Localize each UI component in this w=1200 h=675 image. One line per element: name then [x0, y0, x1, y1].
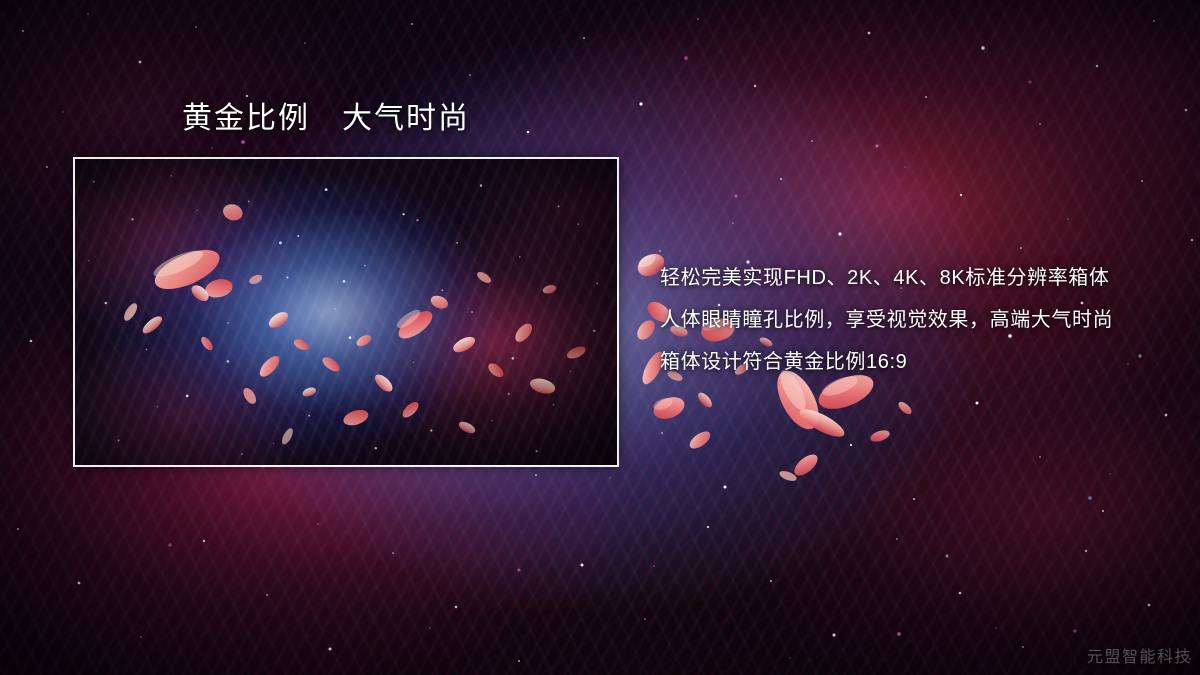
page-title: 黄金比例 大气时尚 — [182, 101, 470, 137]
body-line-2: 人体眼睛瞳孔比例，享受视觉效果，高端大气时尚 — [660, 299, 1180, 341]
picture-vignette — [75, 159, 617, 465]
picture-frame — [73, 157, 619, 467]
body-copy: 轻松完美实现FHD、2K、4K、8K标准分辨率箱体 人体眼睛瞳孔比例，享受视觉效… — [660, 257, 1180, 383]
picture-image — [75, 159, 617, 465]
body-line-1: 轻松完美实现FHD、2K、4K、8K标准分辨率箱体 — [660, 257, 1180, 299]
body-line-3: 箱体设计符合黄金比例16:9 — [660, 341, 1180, 383]
watermark: 元盟智能科技 — [1087, 643, 1192, 667]
slide-canvas: 黄金比例 大气时尚 轻松完美实现FHD、2K、4K、8K标准分辨率箱体 人体眼睛… — [0, 0, 1200, 675]
